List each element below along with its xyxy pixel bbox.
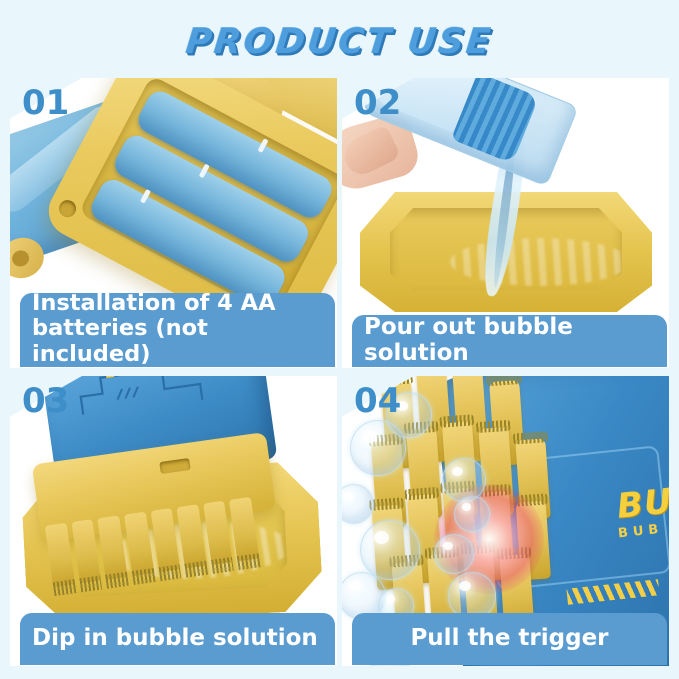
nozzle-tube (150, 508, 180, 572)
nozzle-tube (124, 512, 154, 576)
step-caption-03: Dip in bubble solution (20, 613, 335, 665)
step-caption-04-text: Pull the trigger (410, 625, 608, 651)
step-caption-02: Pour out bubble solution (352, 315, 667, 367)
step-caption-01: Installation of 4 AA batteries (not incl… (20, 293, 335, 367)
bubble (454, 496, 490, 532)
nozzle-tube (203, 501, 233, 565)
step-panel-04: BU BUB (342, 376, 669, 666)
liquid-ripple (450, 238, 630, 286)
product-logo: BU (616, 481, 669, 527)
nozzle-tube (97, 515, 127, 579)
step-number-01: 01 (22, 86, 69, 120)
step-panel-01: 01 Installation of 4 AA batteries (not i… (10, 78, 337, 368)
step-number-04: 04 (354, 384, 401, 418)
step-number-02: 02 (354, 86, 401, 120)
product-use-infographic: PRODUCT USE (0, 0, 679, 679)
step-caption-01-text: Installation of 4 AA batteries (not incl… (32, 291, 323, 367)
caption-line-1: Installation of 4 AA (32, 290, 276, 316)
step-panel-02: 02 Pour out bubble solution (342, 78, 669, 368)
nozzle-tube (71, 519, 101, 583)
step-number-03: 03 (22, 384, 69, 418)
step-caption-03-text: Dip in bubble solution (32, 625, 318, 651)
step-panel-03: 03 Dip in bubble solution (10, 376, 337, 666)
page-title: PRODUCT USE (184, 22, 495, 62)
steps-grid: 01 Installation of 4 AA batteries (not i… (10, 78, 669, 666)
step-caption-04: Pull the trigger (352, 613, 667, 665)
bubble (360, 520, 420, 580)
nozzle-tube (177, 504, 207, 568)
caption-line-2: batteries (not included) (32, 315, 208, 366)
bubble (442, 458, 486, 502)
bubble (434, 534, 474, 574)
page-title-area: PRODUCT USE (0, 22, 679, 72)
step-caption-02-text: Pour out bubble solution (364, 314, 655, 366)
compartment-screw (56, 197, 79, 220)
